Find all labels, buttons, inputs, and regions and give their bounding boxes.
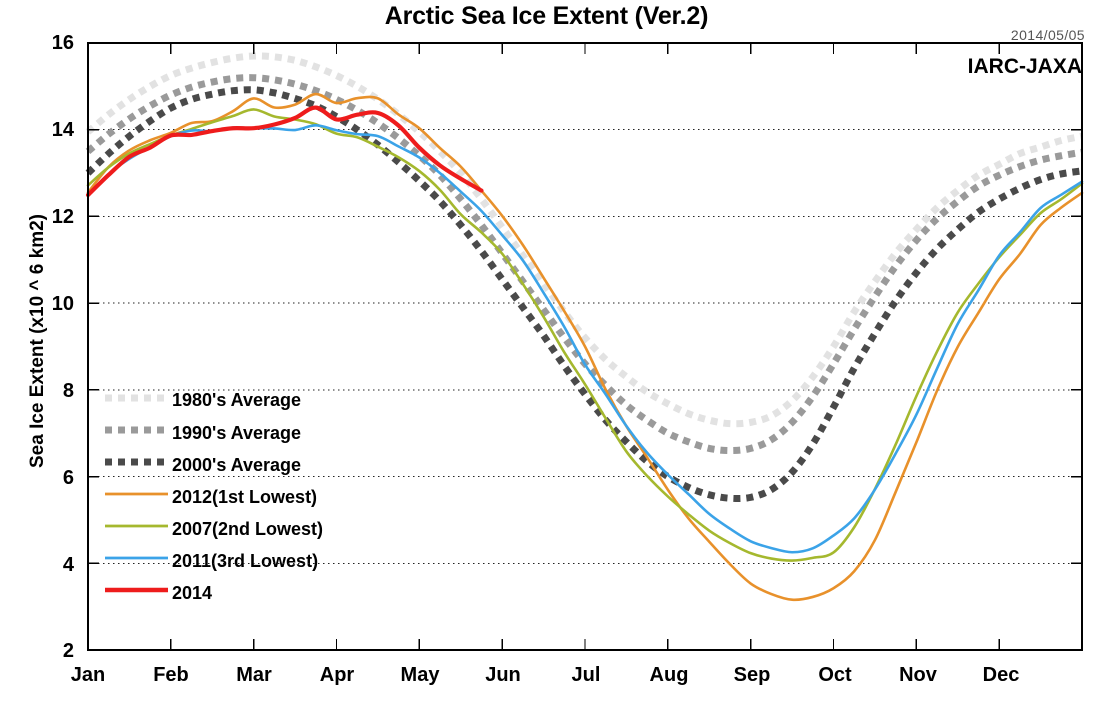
series-lines: [88, 56, 1082, 600]
legend-swatches: [105, 398, 168, 590]
plot-area: [0, 0, 1093, 711]
chart-root: Arctic Sea Ice Extent (Ver.2) 2014/05/05…: [0, 0, 1093, 711]
